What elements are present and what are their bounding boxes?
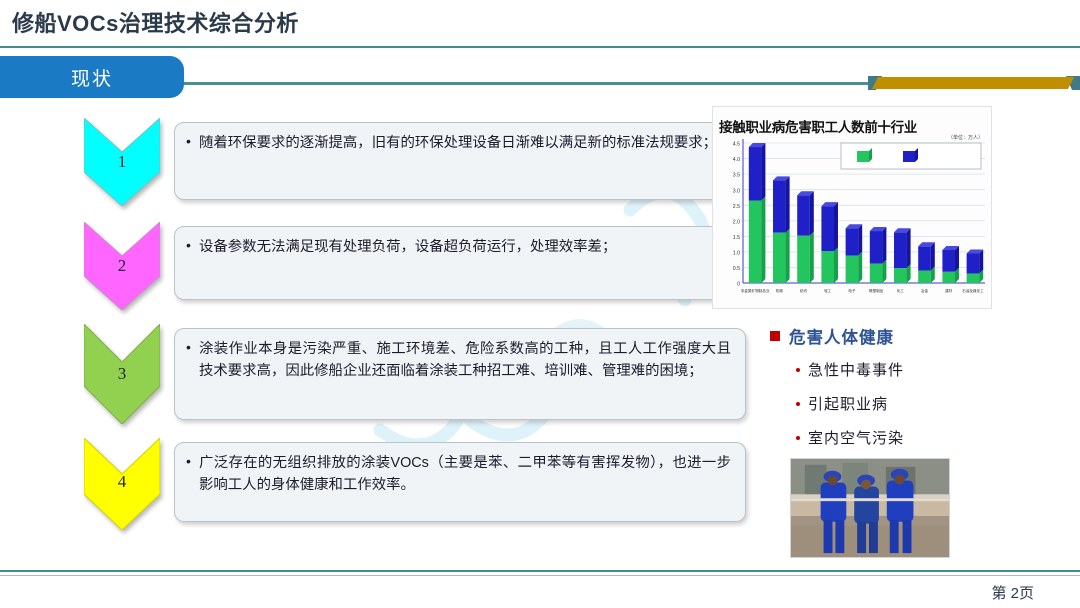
health-item: 引起职业病	[796, 393, 992, 414]
svg-text:轻工: 轻工	[824, 288, 832, 293]
svg-text:1.0: 1.0	[733, 250, 740, 256]
point-box-3: 涂装作业本身是污染严重、施工环境差、危险系数高的工种，且工人工作强度大且技术要求…	[174, 328, 746, 420]
red-square-bullet-icon	[770, 331, 780, 341]
health-item-label: 急性中毒事件	[808, 359, 904, 380]
section-tab-current-status[interactable]: 现状	[0, 56, 184, 98]
point-text-4: 广泛存在的无组织排放的涂装VOCs（主要是苯、二甲苯等有害挥发物），也进一步影响…	[199, 452, 731, 497]
red-dot-bullet-icon	[796, 436, 800, 440]
point-box-2: 设备参数无法满足现有处理负荷，设备超负荷运行，处理效率差；	[174, 226, 746, 300]
red-dot-bullet-icon	[796, 368, 800, 372]
svg-text:纺织: 纺织	[800, 288, 808, 293]
svg-text:石油及煤化工: 石油及煤化工	[962, 288, 984, 293]
right-panel: 接触职业病危害职工人数前十行业 （单位：万人） 00.51.01.52.02.5…	[712, 106, 992, 564]
occupational-disease-chart: 接触职业病危害职工人数前十行业 （单位：万人） 00.51.01.52.02.5…	[712, 106, 992, 309]
chevron-2: 2	[84, 222, 160, 310]
chevron-2-number: 2	[84, 256, 160, 276]
svg-text:4.0: 4.0	[733, 157, 740, 163]
footer-divider-bottom	[0, 575, 1080, 576]
chart-plot-area: 00.51.01.52.02.53.03.54.04.5非金属矿物制品业机械纺织…	[713, 137, 992, 309]
title-divider	[0, 46, 1080, 48]
corner-banner-decoration	[868, 76, 1080, 91]
health-hazard-heading-label: 危害人体健康	[789, 324, 894, 348]
svg-text:非金属矿物制品业: 非金属矿物制品业	[741, 288, 770, 293]
chevron-4-number: 4	[84, 472, 160, 492]
svg-text:3.5: 3.5	[733, 173, 740, 179]
point-text-1: 随着环保要求的逐渐提高，旧有的环保处理设备日渐难以满足新的标准法规要求；	[199, 132, 731, 154]
svg-text:2.0: 2.0	[733, 219, 740, 225]
svg-text:3.0: 3.0	[733, 188, 740, 194]
section-tab-label: 现状	[71, 64, 113, 91]
health-hazard-list: 危害人体健康 急性中毒事件 引起职业病 室内空气污染	[770, 324, 992, 461]
svg-text:0: 0	[737, 282, 740, 288]
health-item: 室内空气污染	[796, 427, 992, 448]
chevron-3-number: 3	[84, 364, 160, 384]
svg-text:电子: 电子	[848, 288, 856, 293]
point-text-2: 设备参数无法满足现有处理负荷，设备超负荷运行，处理效率差；	[199, 236, 731, 258]
chevron-1-number: 1	[84, 152, 160, 172]
health-item: 急性中毒事件	[796, 359, 992, 380]
point-box-4: 广泛存在的无组织排放的涂装VOCs（主要是苯、二甲苯等有害挥发物），也进一步影响…	[174, 442, 746, 522]
svg-text:建材: 建材	[945, 288, 953, 293]
health-item-label: 室内空气污染	[808, 427, 904, 448]
chart-title: 接触职业病危害职工人数前十行业	[719, 116, 917, 136]
health-item-label: 引起职业病	[808, 393, 888, 414]
chevron-4: 4	[84, 438, 160, 530]
svg-text:橡塑制品: 橡塑制品	[869, 288, 884, 293]
svg-text:1.5: 1.5	[733, 235, 740, 241]
chevron-1: 1	[84, 118, 160, 206]
svg-text:2.5: 2.5	[733, 204, 740, 210]
workers-photo	[790, 458, 950, 558]
svg-text:4.5: 4.5	[733, 142, 740, 148]
svg-text:0.5: 0.5	[733, 266, 740, 272]
svg-text:机械: 机械	[776, 288, 784, 293]
chevron-3: 3	[84, 324, 160, 424]
point-text-3: 涂装作业本身是污染严重、施工环境差、危险系数高的工种，且工人工作强度大且技术要求…	[199, 338, 731, 383]
red-dot-bullet-icon	[796, 402, 800, 406]
page-title: 修船VOCs治理技术综合分析	[12, 6, 299, 38]
point-box-1: 随着环保要求的逐渐提高，旧有的环保处理设备日渐难以满足新的标准法规要求；	[174, 122, 746, 200]
svg-text:冶金: 冶金	[921, 288, 929, 293]
footer-divider-top	[0, 570, 1080, 572]
svg-text:化工: 化工	[897, 288, 905, 293]
health-hazard-heading: 危害人体健康	[770, 324, 992, 348]
page-number-label: 第 2页	[991, 582, 1034, 603]
